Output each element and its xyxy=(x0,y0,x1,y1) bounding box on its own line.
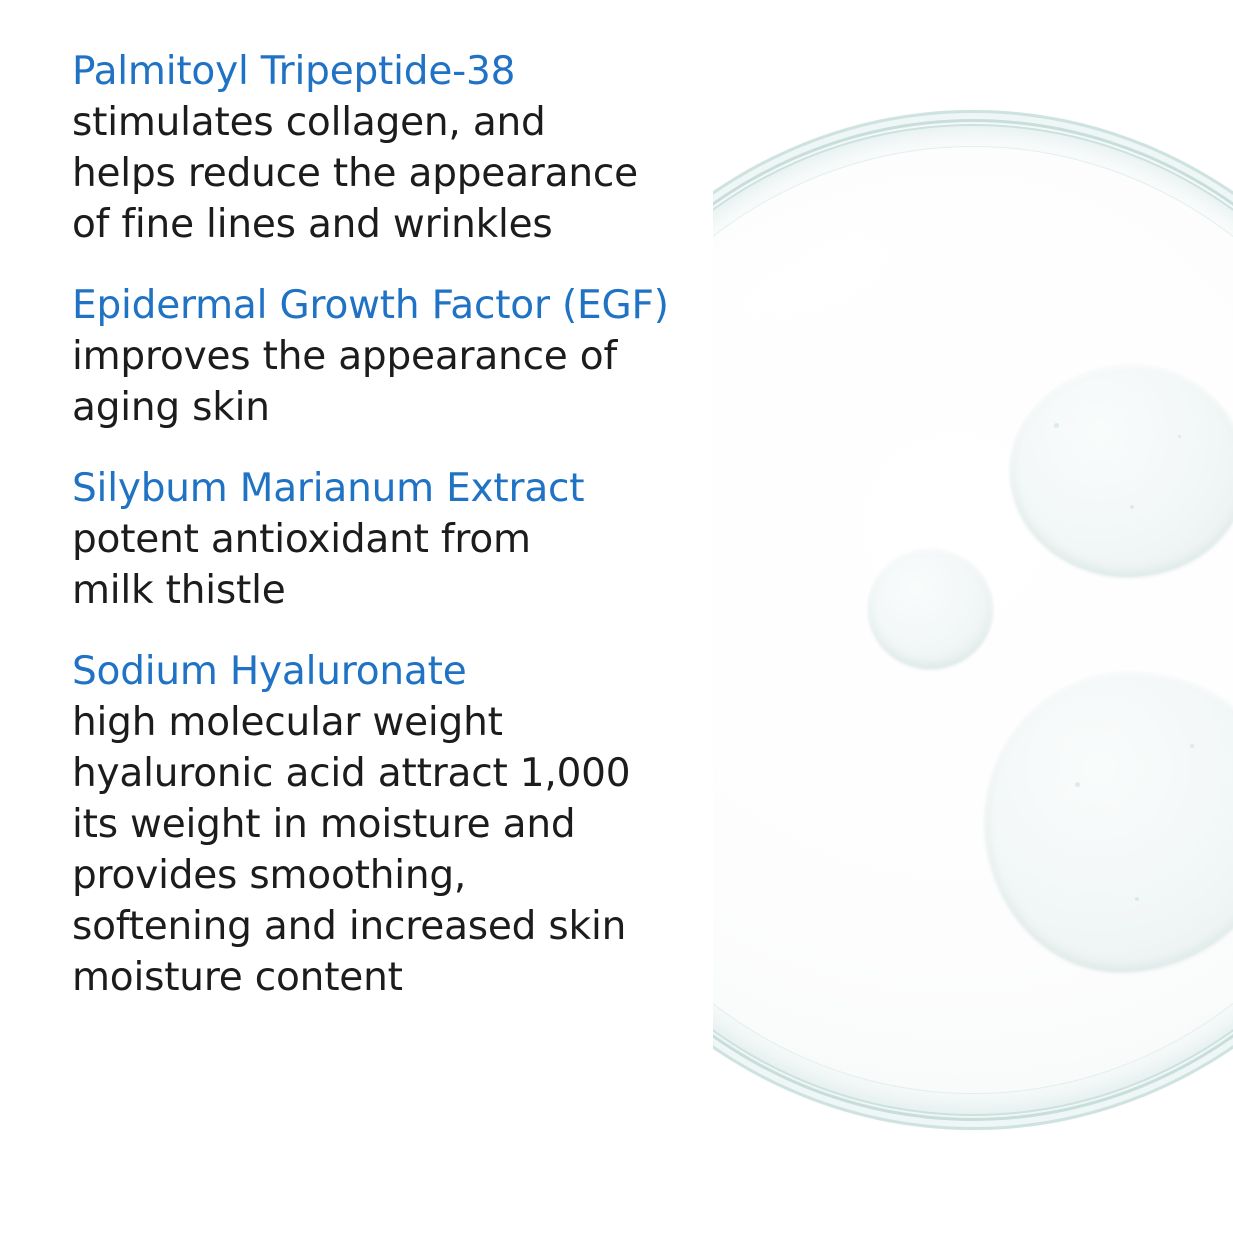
droplet-speck xyxy=(1190,744,1194,748)
serum-droplet-large-lower xyxy=(985,672,1233,972)
ingredient-description: high molecular weight hyaluronic acid at… xyxy=(72,697,752,1003)
droplet-speck xyxy=(1135,897,1139,901)
ingredient-list: Palmitoyl Tripeptide-38 stimulates colla… xyxy=(72,46,752,1003)
droplet-speck xyxy=(1178,435,1181,438)
droplet-speck xyxy=(1130,505,1134,509)
ingredient-item-epidermal-growth-factor: Epidermal Growth Factor (EGF) improves t… xyxy=(72,280,752,433)
ingredient-description: potent antioxidant from milk thistle xyxy=(72,514,752,616)
ingredient-item-silybum-marianum-extract: Silybum Marianum Extract potent antioxid… xyxy=(72,463,752,616)
ingredient-name: Epidermal Growth Factor (EGF) xyxy=(72,280,752,331)
petri-dish-photo xyxy=(713,0,1233,1233)
dish-inner-surface xyxy=(713,146,1233,1094)
ingredient-info-page: Palmitoyl Tripeptide-38 stimulates colla… xyxy=(0,0,1233,1233)
ingredient-name: Sodium Hyaluronate xyxy=(72,646,752,697)
ingredient-description: stimulates collagen, and helps reduce th… xyxy=(72,97,752,250)
ingredient-item-palmitoyl-tripeptide-38: Palmitoyl Tripeptide-38 stimulates colla… xyxy=(72,46,752,250)
droplet-speck xyxy=(1054,423,1059,428)
droplet-speck xyxy=(1075,782,1080,787)
petri-dish xyxy=(713,110,1233,1130)
ingredient-description: improves the appearance of aging skin xyxy=(72,331,752,433)
ingredient-item-sodium-hyaluronate: Sodium Hyaluronate high molecular weight… xyxy=(72,646,752,1003)
ingredient-name: Palmitoyl Tripeptide-38 xyxy=(72,46,752,97)
ingredient-name: Silybum Marianum Extract xyxy=(72,463,752,514)
serum-droplet-large-upper xyxy=(1010,365,1233,577)
serum-droplet-small xyxy=(868,549,993,669)
